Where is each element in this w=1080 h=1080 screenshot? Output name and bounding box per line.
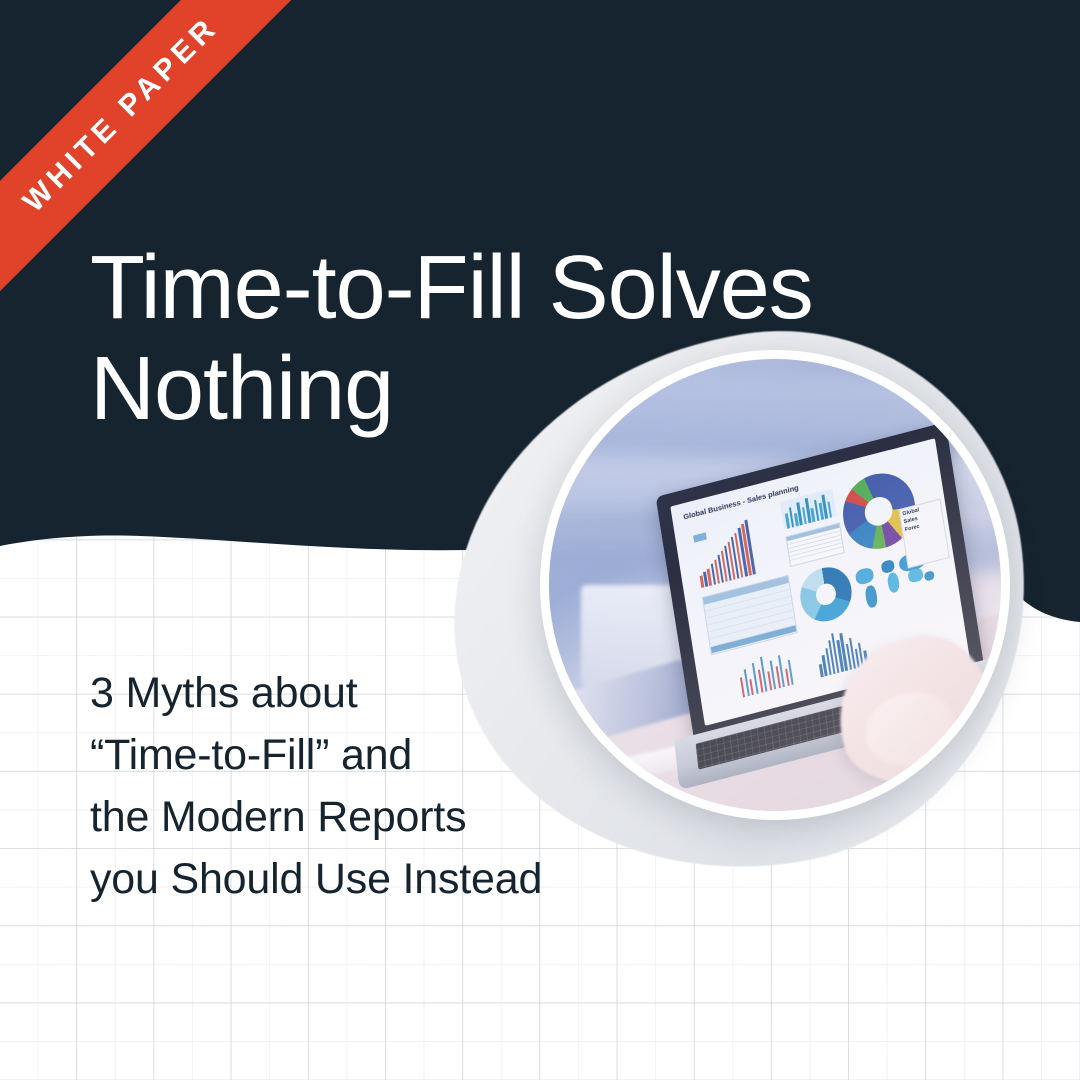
page-subtitle-line-1: 3 Myths about xyxy=(90,662,650,724)
page-title: Time-to-Fill Solves Nothing xyxy=(90,238,910,440)
page-subtitle-line-3: the Modern Reports xyxy=(90,786,650,848)
page-title-line-2: Nothing xyxy=(90,339,910,440)
page-subtitle-line-4: you Should Use Instead xyxy=(90,848,650,910)
page-subtitle: 3 Myths about “Time-to-Fill” and the Mod… xyxy=(90,662,650,910)
page-title-line-1: Time-to-Fill Solves xyxy=(90,238,910,339)
white-paper-cover: WHITE PAPER Global Business - Sales plan… xyxy=(0,0,1080,1080)
page-subtitle-line-2: “Time-to-Fill” and xyxy=(90,724,650,786)
ribbon-label: WHITE PAPER xyxy=(14,12,224,222)
